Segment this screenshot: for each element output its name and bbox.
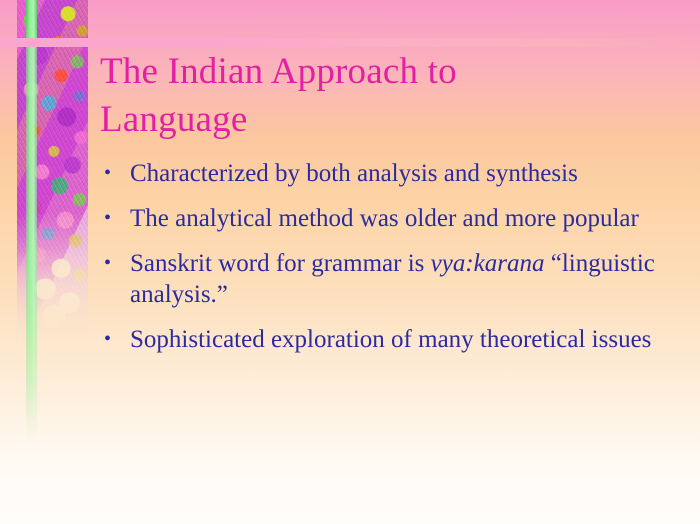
bullet-text-2: The analytical method was older and more… bbox=[130, 203, 690, 234]
bullet-text-3: Sanskrit word for grammar is vya:karana … bbox=[130, 248, 690, 310]
presentation-slide: The Indian Approach to Language • Charac… bbox=[0, 0, 700, 524]
list-item: • Sanskrit word for grammar is vya:karan… bbox=[100, 248, 690, 310]
sanskrit-term: vya:karana bbox=[431, 250, 545, 277]
list-item: • The analytical method was older and mo… bbox=[100, 203, 690, 234]
list-item: • Characterized by both analysis and syn… bbox=[100, 158, 690, 189]
list-item: • Sophisticated exploration of many theo… bbox=[100, 324, 690, 355]
bullet-dot-icon: • bbox=[100, 203, 130, 234]
bullet-dot-icon: • bbox=[100, 248, 130, 279]
pink-horizontal-band bbox=[0, 38, 700, 47]
slide-bullet-list: • Characterized by both analysis and syn… bbox=[100, 158, 690, 369]
bullet-dot-icon: • bbox=[100, 324, 130, 355]
bullet-text-1: Characterized by both analysis and synth… bbox=[130, 158, 690, 189]
green-vertical-stripe bbox=[26, 0, 37, 440]
bullet-text-3-prefix: Sanskrit word for grammar is bbox=[130, 250, 431, 277]
bullet-text-4: Sophisticated exploration of many theore… bbox=[130, 324, 690, 355]
bullet-dot-icon: • bbox=[100, 158, 130, 189]
slide-title: The Indian Approach to Language bbox=[100, 48, 660, 144]
